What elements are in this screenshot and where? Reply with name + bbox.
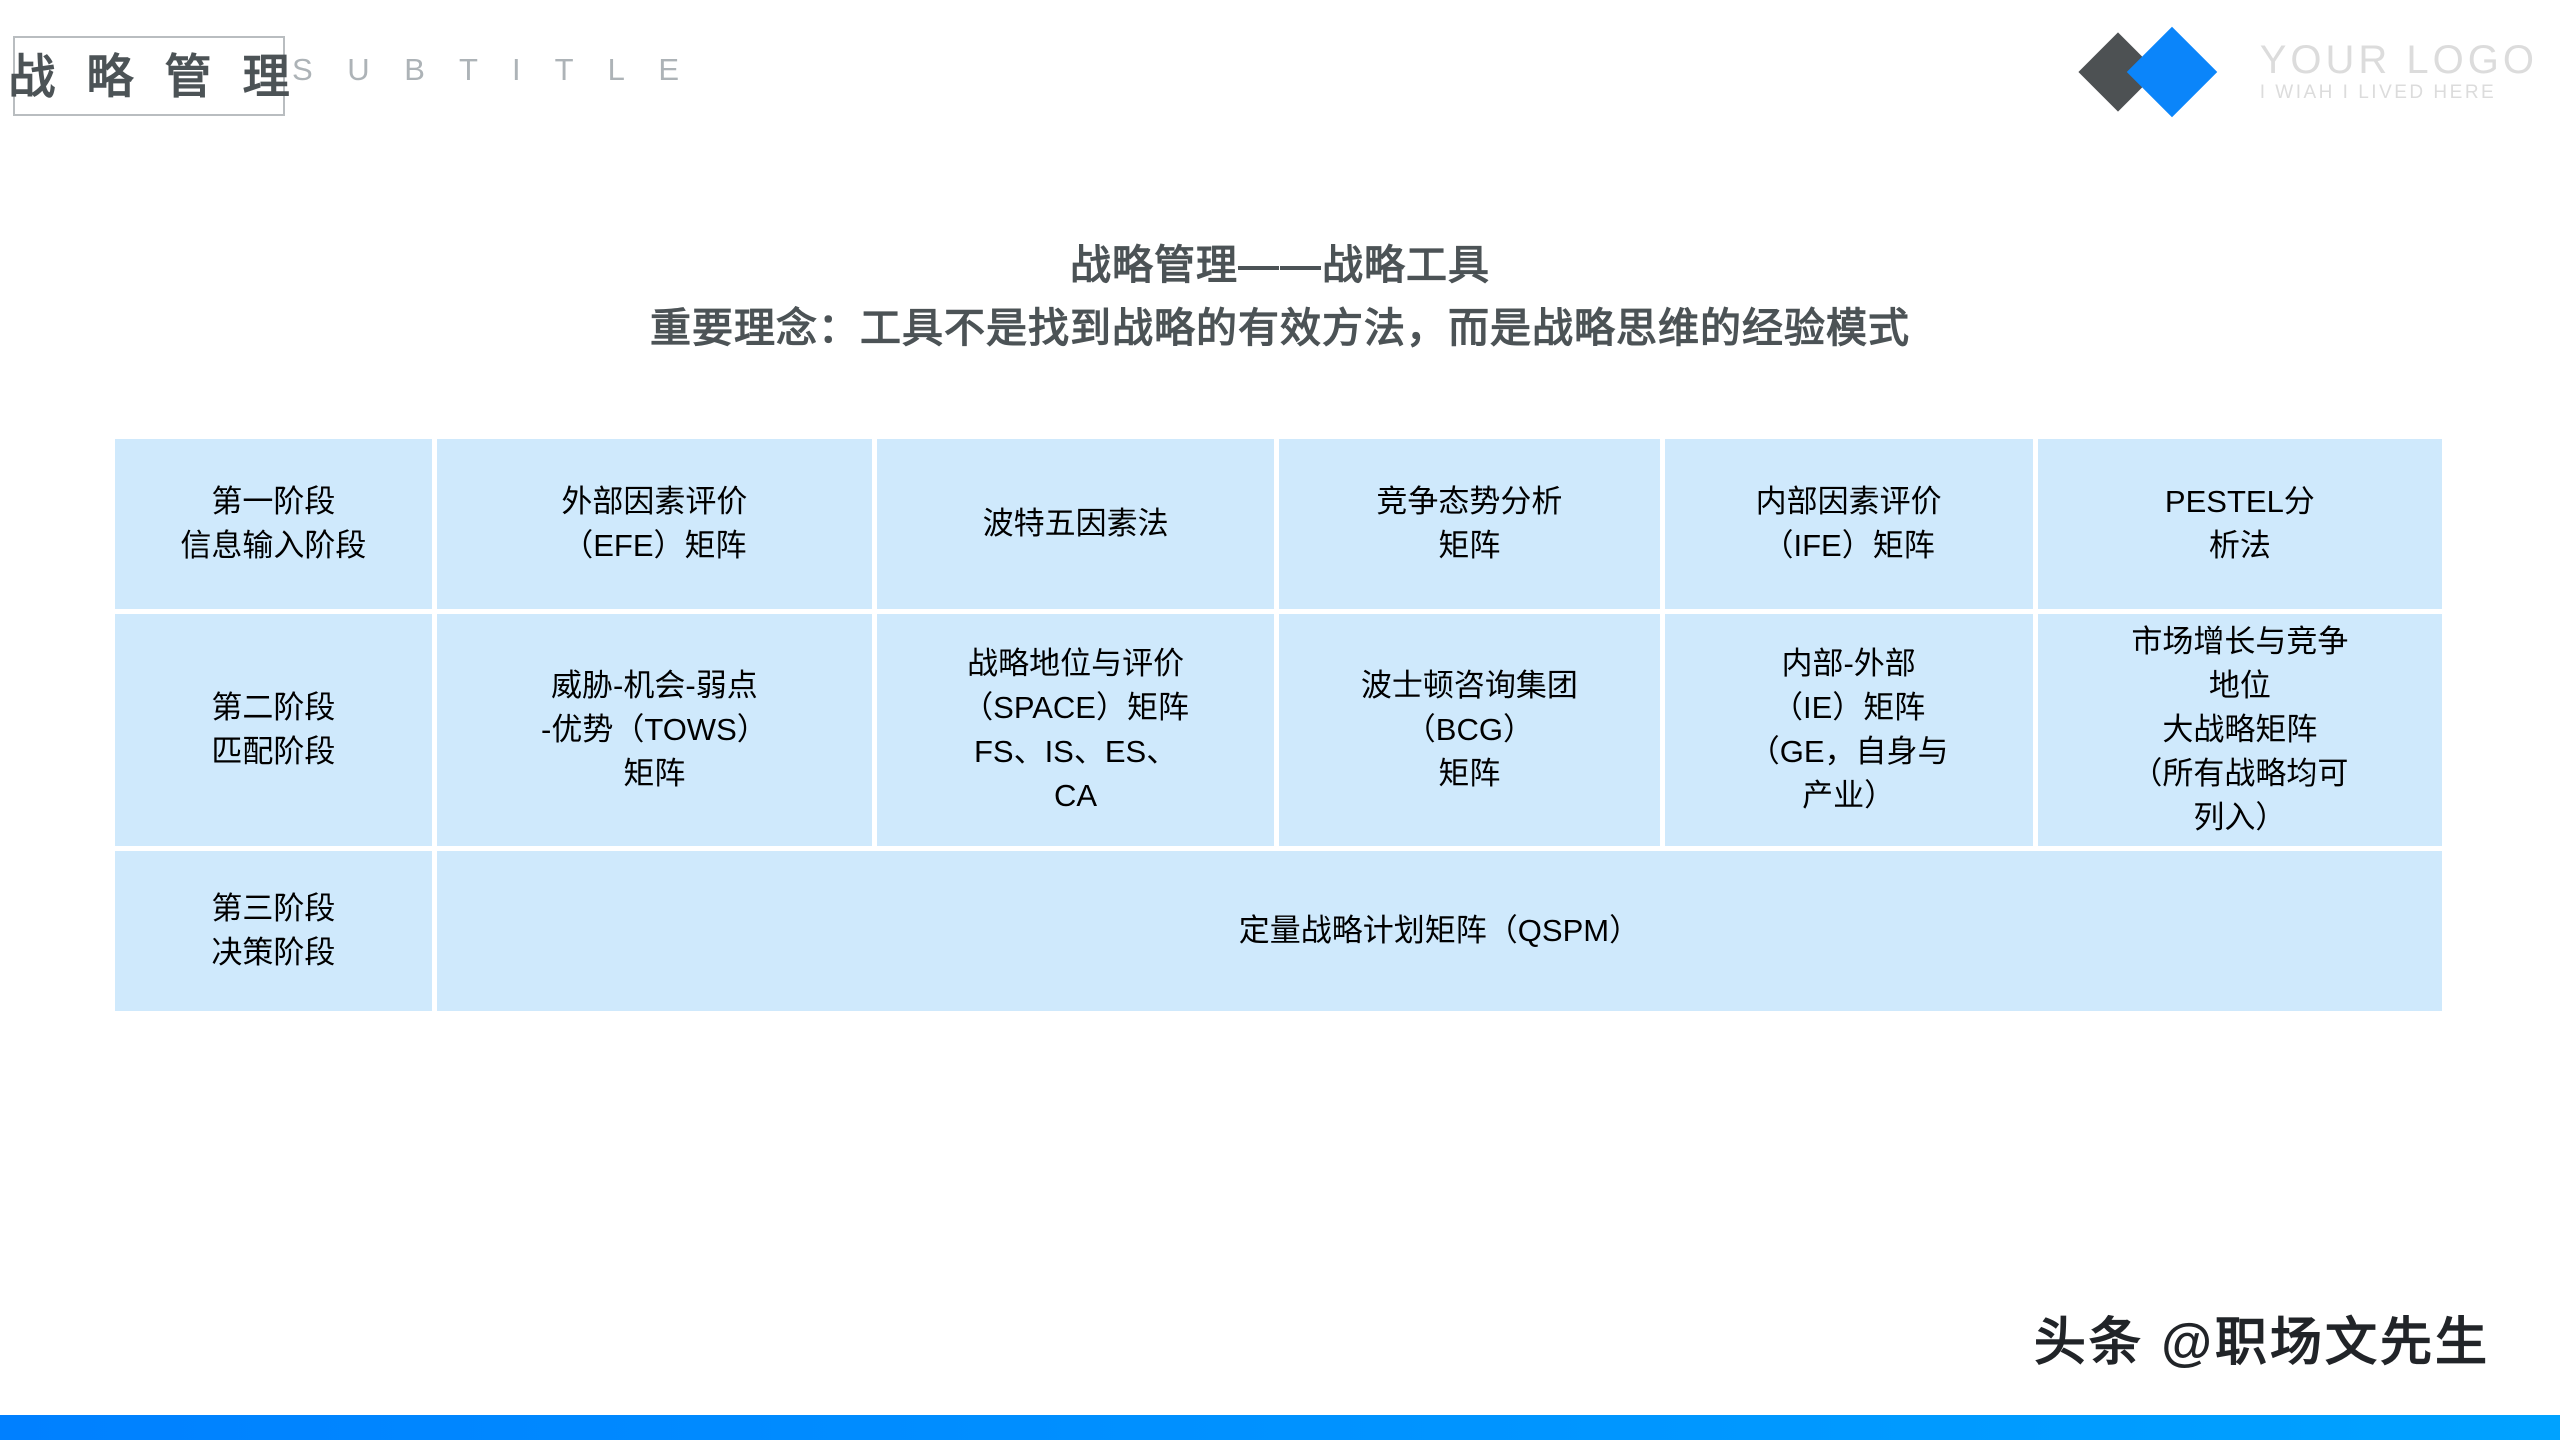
- logo-diamonds-icon: [2082, 30, 2254, 114]
- slide-title: 战略管理——战略工具: [0, 238, 2560, 293]
- tool-cell: 战略地位与评价（SPACE）矩阵FS、IS、ES、CA: [877, 614, 1274, 846]
- tool-cell: 威胁-机会-弱点-优势（TOWS）矩阵: [437, 614, 872, 846]
- tool-cell: 内部因素评价（IFE）矩阵: [1665, 439, 2033, 609]
- stage-cell: 第一阶段信息输入阶段: [115, 439, 432, 609]
- brand-subtitle: S U B T I T L E: [292, 52, 692, 88]
- tool-cell: 市场增长与竞争地位大战略矩阵（所有战略均可列入）: [2038, 614, 2442, 846]
- stage-cell: 第二阶段匹配阶段: [115, 614, 432, 846]
- title-block: 战略管理——战略工具 重要理念：工具不是找到战略的有效方法，而是战略思维的经验模…: [0, 238, 2560, 356]
- bottom-accent-bar: [0, 1415, 2560, 1440]
- tool-cell-merged: 定量战略计划矩阵（QSPM）: [437, 851, 2442, 1011]
- stage-cell: 第三阶段决策阶段: [115, 851, 432, 1011]
- company-logo: YOUR LOGO I WIAH I LIVED HERE: [2082, 30, 2538, 114]
- table-row: 第三阶段决策阶段 定量战略计划矩阵（QSPM）: [115, 851, 2442, 1011]
- tool-cell: PESTEL分析法: [2038, 439, 2442, 609]
- slide-subtitle: 重要理念：工具不是找到战略的有效方法，而是战略思维的经验模式: [0, 301, 2560, 356]
- table-row: 第二阶段匹配阶段 威胁-机会-弱点-优势（TOWS）矩阵 战略地位与评价（SPA…: [115, 614, 2442, 846]
- table-row: 第一阶段信息输入阶段 外部因素评价（EFE）矩阵 波特五因素法 竞争态势分析矩阵…: [115, 439, 2442, 609]
- tool-cell: 外部因素评价（EFE）矩阵: [437, 439, 872, 609]
- tool-cell: 内部-外部（IE）矩阵（GE，自身与产业）: [1665, 614, 2033, 846]
- brand-title: 战 略 管 理: [0, 53, 299, 100]
- strategy-tools-matrix: 第一阶段信息输入阶段 外部因素评价（EFE）矩阵 波特五因素法 竞争态势分析矩阵…: [110, 434, 2447, 1016]
- brand-title-box: 战 略 管 理: [13, 36, 285, 116]
- tool-cell: 竞争态势分析矩阵: [1279, 439, 1659, 609]
- tool-cell: 波士顿咨询集团（BCG）矩阵: [1279, 614, 1659, 846]
- logo-name: YOUR LOGO: [2260, 39, 2538, 81]
- slide-header: 战 略 管 理 S U B T I T L E YOUR LOGO I WIAH…: [0, 0, 2560, 150]
- logo-text-block: YOUR LOGO I WIAH I LIVED HERE: [2260, 39, 2538, 106]
- tool-cell: 波特五因素法: [877, 439, 1274, 609]
- logo-diamond-blue-icon: [2126, 27, 2217, 118]
- logo-tagline: I WIAH I LIVED HERE: [2260, 81, 2538, 106]
- watermark: 头条 @职场文先生: [2034, 1300, 2490, 1375]
